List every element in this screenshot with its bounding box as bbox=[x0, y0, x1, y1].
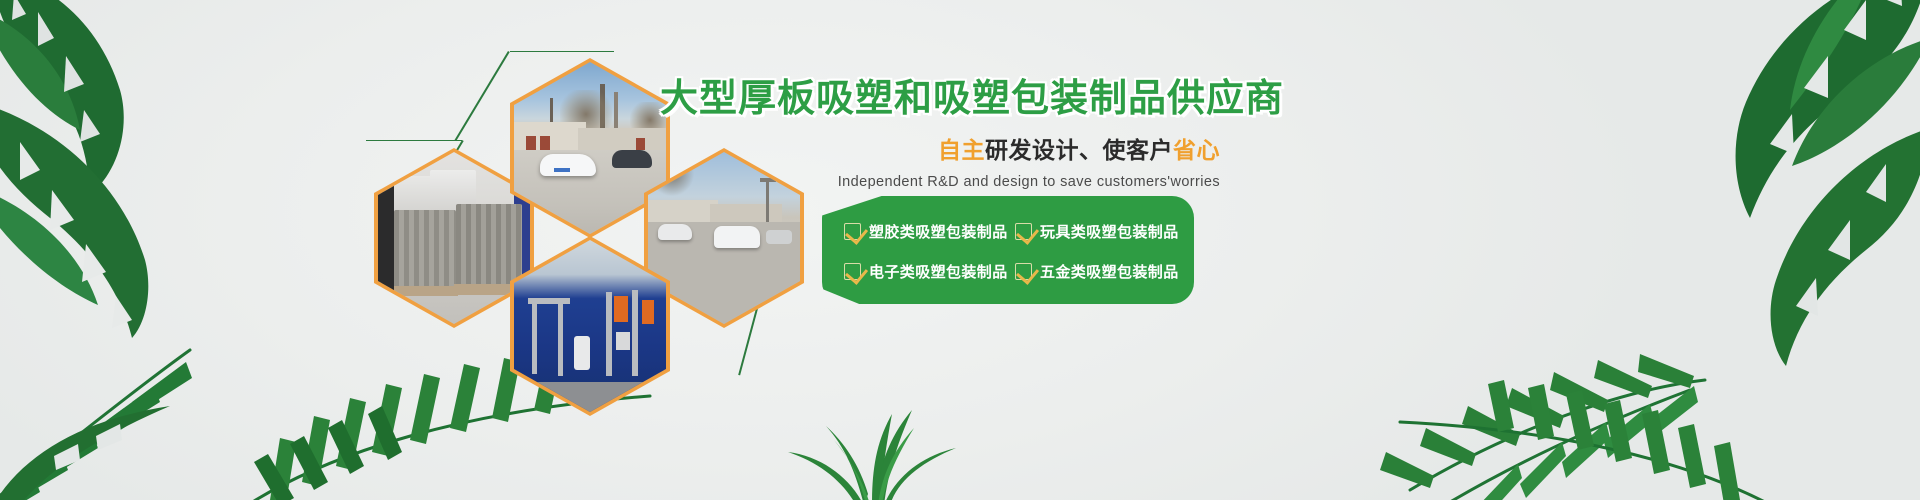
headline-text-block: 大型厚板吸塑和吸塑包装制品供应商 自主研发设计、使客户省心 Independen… bbox=[660, 80, 1220, 190]
monstera-leaf-top-left-icon bbox=[0, 0, 190, 200]
green-accent-line-top bbox=[510, 51, 614, 52]
photo-blue-workshop-machine bbox=[514, 240, 666, 412]
page-title: 大型厚板吸塑和吸塑包装制品供应商 bbox=[660, 80, 1220, 118]
promotional-banner: 大型厚板吸塑和吸塑包装制品供应商 自主研发设计、使客户省心 Independen… bbox=[0, 0, 1920, 500]
product-category-panel: 塑胶类吸塑包装制品 玩具类吸塑包装制品 电子类吸塑包装制品 五金类吸塑包装制品 bbox=[822, 196, 1194, 304]
feature-label: 玩具类吸塑包装制品 bbox=[1040, 221, 1179, 242]
feature-label: 塑胶类吸塑包装制品 bbox=[869, 221, 1008, 242]
palm-leaf-left-icon bbox=[0, 210, 240, 500]
checkbox-checked-icon bbox=[844, 263, 861, 280]
palm-leaf-right-icon bbox=[1290, 190, 1710, 500]
monstera-leaf-right-icon bbox=[1700, 120, 1920, 370]
subtitle: 自主研发设计、使客户省心 bbox=[660, 131, 1220, 165]
monstera-leaf-top-right-icon bbox=[1600, 0, 1920, 240]
green-accent-line-mid bbox=[366, 140, 462, 141]
feature-item-hardware: 五金类吸塑包装制品 bbox=[1015, 252, 1180, 290]
checkbox-checked-icon bbox=[1015, 263, 1032, 280]
subtitle-highlight-start: 自主 bbox=[938, 137, 985, 163]
palm-leaf-bottom-right-icon bbox=[1380, 330, 1800, 500]
monstera-leaf-left-icon bbox=[0, 90, 200, 340]
monstera-leaf-bottom-left-icon bbox=[0, 370, 180, 500]
feature-label: 电子类吸塑包装制品 bbox=[869, 261, 1008, 282]
photo-pallets-of-gray-rolls bbox=[378, 152, 530, 324]
subtitle-middle: 研发设计、使客户 bbox=[985, 137, 1173, 163]
feature-item-electronics: 电子类吸塑包装制品 bbox=[844, 252, 1009, 290]
checkbox-checked-icon bbox=[844, 223, 861, 240]
subtitle-highlight-end: 省心 bbox=[1173, 137, 1220, 163]
photo-factory-yard-with-white-car bbox=[514, 62, 666, 234]
feature-item-toys: 玩具类吸塑包装制品 bbox=[1015, 212, 1180, 250]
checkbox-checked-icon bbox=[1015, 223, 1032, 240]
feature-item-plastic: 塑胶类吸塑包装制品 bbox=[844, 212, 1009, 250]
feature-label: 五金类吸塑包装制品 bbox=[1040, 261, 1179, 282]
english-subtitle: Independent R&D and design to save custo… bbox=[660, 174, 1220, 190]
green-accent-diagonal-upper bbox=[454, 51, 509, 141]
